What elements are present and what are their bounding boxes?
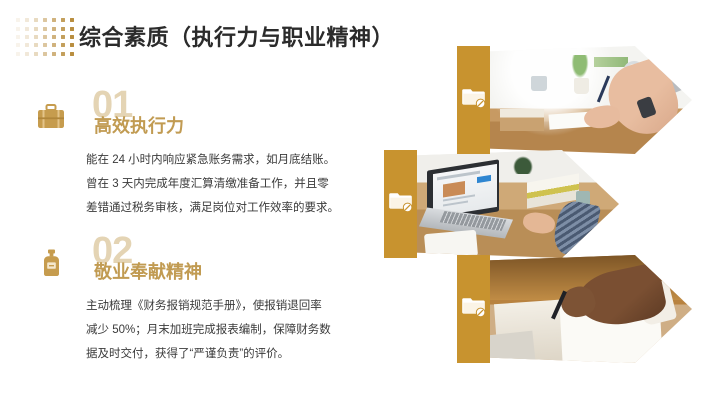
section-2-body: 主动梳理《财务报销规范手册》，使报销退回率 减少 50%；月末加班完成报表编制，… [86,294,378,366]
body-line: 减少 50%；月末加班完成报表编制，保障财务数 [86,318,378,342]
section-1-title: 高效执行力 [94,112,184,138]
photo-image-1 [488,46,692,154]
photo-image-3 [488,255,692,363]
photo-panel-2 [384,150,619,258]
ink-bottle-icon [34,246,68,280]
folder-check-icon [389,189,413,213]
body-line: 差错通过税务审核，满足岗位对工作效率的要求。 [86,196,378,220]
body-line: 能在 24 小时内响应紧急账务需求，如月底结账。 [86,148,378,172]
section-block-1: 01 高效执行力 能在 24 小时内响应紧急账务需求，如月底结账。 曾在 3 天… [30,86,360,146]
photo-panel-1 [457,46,692,154]
body-line: 据及时交付，获得了“严谨负责”的评价。 [86,342,378,366]
briefcase-icon [34,100,68,134]
section-block-2: 02 敬业奉献精神 主动梳理《财务报销规范手册》，使报销退回率 减少 50%；月… [30,232,360,292]
dot-grid [14,16,76,58]
body-line: 主动梳理《财务报销规范手册》，使报销退回率 [86,294,378,318]
page-title: 综合素质（执行力与职业精神） [79,20,394,52]
body-line: 曾在 3 天内完成年度汇算清缴准备工作，并且零 [86,172,378,196]
photo-image-2 [415,150,619,258]
folder-check-icon [462,85,486,109]
section-1-body: 能在 24 小时内响应紧急账务需求，如月底结账。 曾在 3 天内完成年度汇算清缴… [86,148,378,220]
slide-canvas: 综合素质（执行力与职业精神） 01 高效执行力 能在 24 小时内响应紧急账务需… [0,0,720,405]
section-2-header: 02 敬业奉献精神 [30,232,360,292]
folder-check-icon [462,294,486,318]
section-1-header: 01 高效执行力 [30,86,360,146]
photo-panel-3 [457,255,692,363]
section-2-title: 敬业奉献精神 [94,258,202,284]
